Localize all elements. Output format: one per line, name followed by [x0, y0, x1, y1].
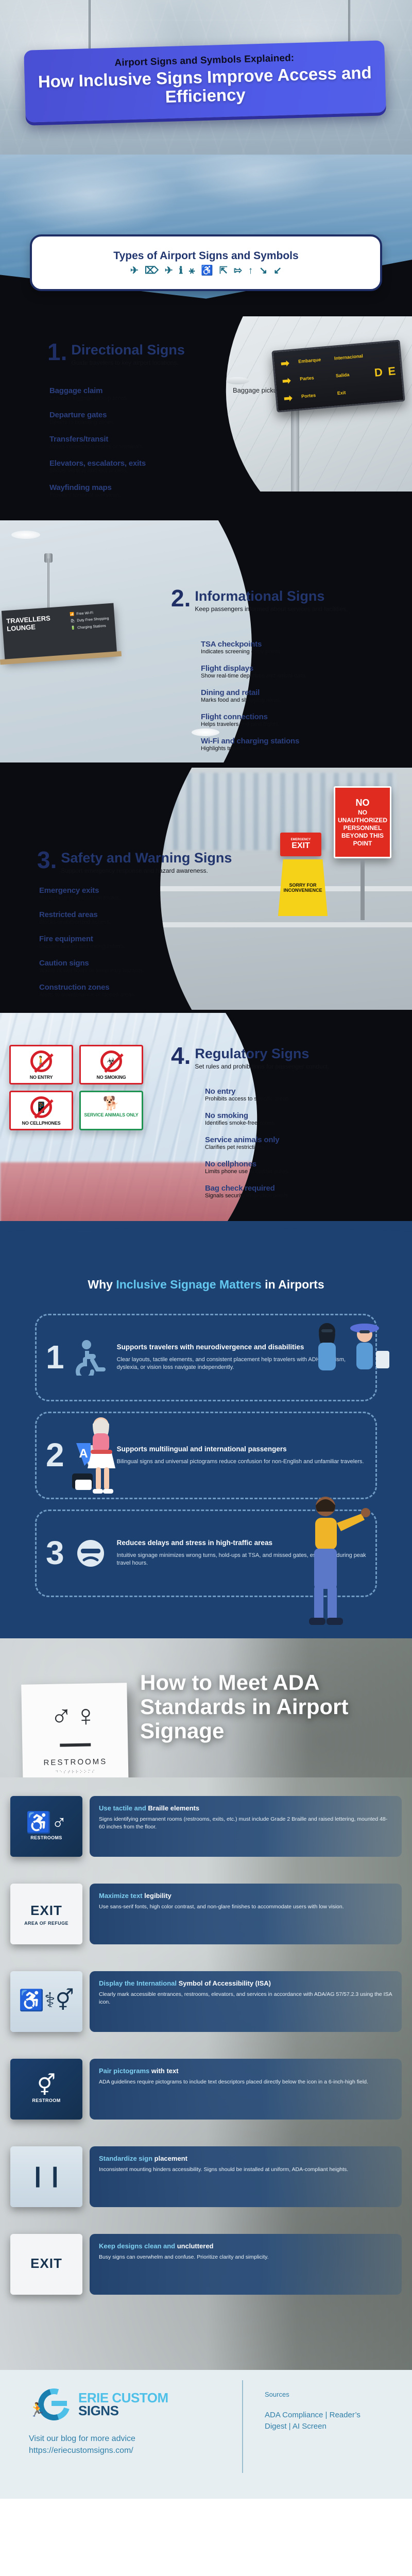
ada-step-5-heading: Standardize sign placement	[99, 2155, 392, 2162]
footer-inner: 🏃 ERIE CUSTOM SIGNS ADA SIGNAGE Visit ou…	[0, 2377, 412, 2485]
ceiling-lamp	[11, 531, 40, 539]
ada-step-2-body: Use sans-serif fonts, high color contras…	[99, 1903, 392, 1911]
arrow-up-right-box-icon: ⇰	[234, 266, 242, 276]
lounge-amenities: 📶Free Wi-Fi 🛍Duty Free Shopping 🔋Chargin…	[66, 603, 117, 657]
item-label: Transfers/transit	[49, 435, 204, 444]
walking-person-icon: 🏃	[29, 2402, 45, 2418]
erie-logo-icon: 🏃	[29, 2386, 73, 2422]
list-item: Fire equipment Locates alarms and exting…	[39, 935, 194, 950]
a-frame-caution-sign: SORRY FOR INCONVENIENCE	[278, 859, 328, 916]
ada-step-3-heading: Display the International Symbol of Acce…	[99, 1979, 392, 1987]
ada-steps-section: ♿♂ RESTROOMS Use tactile and Braille ele…	[0, 1777, 412, 2370]
board-row-2: Partes	[300, 374, 331, 382]
no-entry-sign: 🚶 NO ENTRY	[9, 1045, 73, 1084]
why-row-2-heading: Supports multilingual and international …	[117, 1445, 366, 1453]
section-3-title: Safety and Warning Signs	[61, 850, 232, 866]
section-4-list: No entry Prohibits access to specific ar…	[205, 1087, 359, 1208]
item-desc: Prohibits access to specific areas.	[205, 1096, 359, 1102]
traveler-pointing-illustration	[288, 1489, 391, 1638]
tile-label: RESTROOMS	[30, 1835, 62, 1840]
item-desc: Leads to luggage pickup areas.	[49, 395, 204, 401]
item-label: Elevators, escalators, exits	[49, 459, 204, 468]
arrow-up-icon: ↑	[248, 266, 253, 276]
ada-hero-title: How to Meet ADA Standards in Airport Sig…	[140, 1670, 398, 1743]
no-unauthorized-text: NO UNAUTHORIZED PERSONNEL BEYOND THIS PO…	[338, 809, 387, 848]
service-animals-sign: 🐕 SERVICE ANIMALS ONLY	[79, 1091, 143, 1130]
item-desc: Marks fastest evacuation routes.	[39, 895, 194, 901]
sign-post	[360, 858, 365, 920]
item-desc: Show real-time departure and arrival dat…	[201, 673, 355, 679]
logo-bar	[51, 2401, 67, 2406]
list-item: Construction zones Alerts to maintenance…	[39, 983, 194, 998]
section-4-title: Regulatory Signs	[195, 1046, 329, 1062]
no-smoking-icon: ☣	[100, 1050, 122, 1072]
airplane-landing-icon: ✈	[130, 266, 139, 276]
footer-blog-line-1: Visit our blog for more advice	[29, 2433, 242, 2445]
section-1-title: Directional Signs	[71, 342, 185, 358]
hero-banner: Airport Signs and Symbols Explained: How…	[0, 0, 412, 170]
brand-logo[interactable]: 🏃 ERIE CUSTOM SIGNS ADA SIGNAGE	[29, 2386, 242, 2422]
ada-step-4: ⚥ RESTROOM Pair pictograms with text ADA…	[10, 2050, 402, 2128]
section-1-number: 1.	[47, 342, 67, 362]
ada-step-2: EXIT AREA OF REFUGE Maximize text legibi…	[10, 1875, 402, 1953]
logo-line-2-row: SIGNS ADA SIGNAGE	[78, 2404, 168, 2417]
item-desc: Shows vertical and exit access.	[49, 468, 204, 474]
footer-blog-block[interactable]: Visit our blog for more advice https://e…	[29, 2433, 242, 2456]
section-informational-signs: TRAVELLERS LOUNGE 📶Free Wi-Fi 🛍Duty Free…	[0, 520, 412, 768]
service-animals-label: SERVICE ANIMALS ONLY	[83, 1112, 140, 1117]
restroom-pictogram-icon: ♂♀	[50, 1701, 99, 1732]
item-desc: Identifies smoke-free zones.	[205, 1120, 359, 1126]
section-4-subtitle: Set rules and prohibitions for passenger…	[195, 1063, 329, 1070]
clean-exit-sign-tile: EXIT	[10, 2234, 82, 2295]
item-desc: Blocks unauthorized access.	[39, 919, 194, 925]
restroom-icon: ⚹	[189, 266, 195, 276]
list-item: No smoking Identifies smoke-free zones.	[205, 1111, 359, 1126]
why-title-pre: Why	[88, 1278, 116, 1291]
why-section-title: Why Inclusive Signage Matters in Airport…	[0, 1278, 412, 1292]
list-item: Dining and retail Marks food and shoppin…	[201, 688, 355, 703]
stress-face-icon	[72, 1537, 110, 1569]
item-desc: Alerts to maintenance or closed areas.	[39, 992, 194, 998]
ada-step-1: ♿♂ RESTROOMS Use tactile and Braille ele…	[10, 1788, 402, 1865]
item-desc: Signals security inspection points.	[205, 1193, 359, 1199]
item-desc: Helps travelers find next flights.	[201, 721, 355, 727]
item-label: Baggage claim	[49, 386, 204, 395]
lounge-sign-title: TRAVELLERS LOUNGE	[2, 606, 70, 662]
ada-step-6: EXIT Keep designs clean and uncluttered …	[10, 2226, 402, 2303]
section-2-number: 2.	[171, 588, 191, 608]
exit-area-of-refuge-tile: EXIT AREA OF REFUGE	[10, 1884, 82, 1944]
list-item: Bag check required Signals security insp…	[205, 1184, 359, 1199]
why-row-2-text: Supports multilingual and international …	[117, 1445, 366, 1466]
list-item: Elevators, escalators, exits Shows verti…	[49, 459, 204, 474]
list-item: Flight connections Helps travelers find …	[201, 713, 355, 727]
standard-sign-placement-tile: ❙❙	[10, 2146, 82, 2207]
item-label: Wi-Fi and charging stations	[201, 737, 355, 745]
list-item: Restricted areas Blocks unauthorized acc…	[39, 910, 194, 925]
why-row-2-body: Bilingual signs and universal pictograms…	[117, 1458, 366, 1466]
board-row-1: Embarque	[298, 357, 330, 365]
ada-step-6-body: Busy signs can overwhelm and confuse. Pr…	[99, 2253, 392, 2261]
arrow-right-icon: ➡	[280, 357, 290, 370]
ada-step-1-body: Signs identifying permanent rooms (restr…	[99, 1816, 392, 1831]
restroom-pair-icon: ⚥	[37, 2075, 56, 2096]
list-item: Service animals only Clarifies pet restr…	[205, 1136, 359, 1150]
traveler-walking-illustration	[72, 1413, 139, 1500]
wheelchair-icon: ♿	[201, 266, 213, 276]
footer-right: Sources ADA Compliance | Reader’s Digest…	[243, 2377, 412, 2485]
ada-step-5-card: Standardize sign placement Inconsistent …	[90, 2146, 402, 2207]
list-item: Departure gates Directs to boarding zone…	[49, 411, 204, 426]
ada-step-1-card: Use tactile and Braille elements Signs i…	[90, 1796, 402, 1857]
baggage-pickup-label: Baggage pickup	[233, 386, 281, 394]
no-unauthorized-sign: NO NO UNAUTHORIZED PERSONNEL BEYOND THIS…	[334, 786, 391, 858]
no-smoking-icon: ⌦	[145, 266, 159, 276]
footer: 🏃 ERIE CUSTOM SIGNS ADA SIGNAGE Visit ou…	[0, 2370, 412, 2499]
ada-step-5-body: Inconsistent mounting hinders accessibil…	[99, 2166, 392, 2174]
section-4-heading: 4. Regulatory Signs Set rules and prohib…	[171, 1046, 329, 1070]
arrow-down-right-icon: ↘	[259, 266, 267, 276]
wheelchair-icon	[72, 1340, 110, 1376]
item-label: TSA checkpoints	[201, 640, 355, 649]
types-card-title: Types of Airport Signs and Symbols	[113, 250, 298, 262]
list-item: Flight displays Show real-time departure…	[201, 664, 355, 679]
item-label: Service animals only	[205, 1136, 359, 1144]
item-desc: Marks food and shopping areas.	[201, 697, 355, 703]
ada-step-3-body: Clearly mark accessible entrances, restr…	[99, 1991, 392, 2006]
no-entry-label: NO ENTRY	[13, 1075, 70, 1080]
sources-value: ADA Compliance | Reader’s Digest | AI Sc…	[265, 2410, 373, 2432]
battery-icon: 🔋	[71, 624, 76, 632]
arrow-diagonal-icon: ↙	[273, 266, 282, 276]
list-item: Baggage claim Leads to luggage pickup ar…	[49, 386, 204, 401]
list-item: TSA checkpoints Indicates screening entr…	[201, 640, 355, 655]
item-label: Emergency exits	[39, 886, 194, 895]
item-label: Bag check required	[205, 1184, 359, 1193]
gate-letter-d: D	[374, 366, 383, 380]
item-label: Construction zones	[39, 983, 194, 992]
item-label: Dining and retail	[201, 688, 355, 697]
item-desc: Clarifies pet restrictions.	[205, 1144, 359, 1150]
exit-text-2: EXIT	[30, 2256, 62, 2272]
item-label: Caution signs	[39, 959, 194, 968]
section-3-number: 3.	[37, 850, 57, 870]
types-icon-row: ✈ ⌦ ✈ ℹ ⚹ ♿ ⇱ ⇰ ↑ ↘ ↙	[130, 266, 282, 276]
list-item: Wi-Fi and charging stations Highlights t…	[201, 737, 355, 752]
item-label: Restricted areas	[39, 910, 194, 919]
item-label: Fire equipment	[39, 935, 194, 943]
arrow-up-left-box-icon: ⇱	[219, 266, 228, 276]
no-cellphones-label: NO CELLPHONES	[13, 1121, 70, 1126]
exit-text: EXIT	[30, 1903, 62, 1919]
board-sub-1: Internacional	[334, 353, 366, 361]
pictogram-pair-tile: ⚥ RESTROOM	[10, 2059, 82, 2120]
exit-label: EXIT	[291, 841, 310, 851]
ada-step-4-body: ADA guidelines require pictograms to inc…	[99, 2078, 392, 2086]
section-3-heading: 3. Safety and Warning Signs Support emer…	[37, 850, 232, 874]
arrow-right-icon-2: ➡	[282, 374, 291, 387]
item-label: No cellphones	[205, 1160, 359, 1168]
footer-blog-url[interactable]: https://eriecustomsigns.com/	[29, 2445, 242, 2456]
item-desc: Directs to boarding zones.	[49, 419, 204, 426]
arrow-right-icon-3: ➡	[283, 391, 293, 404]
why-title-post: in Airports	[262, 1278, 324, 1291]
board-sub-2: Salida	[336, 371, 367, 379]
item-label: Flight displays	[201, 664, 355, 673]
section-3-list: Emergency exits Marks fastest evacuation…	[39, 886, 194, 1007]
item-label: Flight connections	[201, 713, 355, 721]
section-safety-warning-signs: NO NO UNAUTHORIZED PERSONNEL BEYOND THIS…	[0, 762, 412, 1010]
section-regulatory-signs: 🚶 NO ENTRY ☣ NO SMOKING 📱 NO CELLPHONES …	[0, 1010, 412, 1226]
ada-standards-hero: ♂♀ RESTROOMS ⠙⠑⠎⠞⠗⠗⠕⠕⠍⠎ How to Meet ADA …	[0, 1638, 412, 1785]
service-dog-icon: 🐕	[83, 1096, 140, 1110]
board-text-column: Embarque Partes Portes	[295, 347, 336, 409]
no-text: NO	[356, 797, 370, 809]
section-2-title: Informational Signs	[195, 588, 348, 604]
traveler-illustration-pair	[299, 1319, 397, 1401]
no-smoking-label: NO SMOKING	[83, 1075, 140, 1080]
types-card: Types of Airport Signs and Symbols ✈ ⌦ ✈…	[30, 234, 382, 291]
airplane-up-icon: ✈	[165, 266, 173, 276]
section-1-subtitle: Guide travelers to key airport locations…	[71, 359, 185, 366]
item-desc: Marks connection routes or terminals.	[49, 444, 204, 450]
lounge-rod	[47, 558, 49, 608]
ada-step-3-card: Display the International Symbol of Acce…	[90, 1971, 402, 2032]
ada-step-5: ❙❙ Standardize sign placement Inconsiste…	[10, 2138, 402, 2215]
item-desc: Locates alarms and extinguishers.	[39, 943, 194, 950]
directional-photo: Baggage pickup ➡ ➡ ➡ Embarque Partes Por…	[196, 316, 412, 492]
list-item: Wayfinding maps Provides terminal overvi…	[49, 483, 204, 498]
board-sub-3: Exit	[337, 388, 369, 396]
list-item: No cellphones Limits phone use in certai…	[205, 1160, 359, 1175]
why-inclusive-signage-section: Why Inclusive Signage Matters in Airport…	[0, 1221, 412, 1638]
why-title-highlight: Inclusive Signage Matters	[116, 1278, 261, 1291]
ada-step-2-card: Maximize text legibility Use sans-serif …	[90, 1884, 402, 1944]
item-label: No smoking	[205, 1111, 359, 1120]
column-cap	[226, 377, 249, 384]
why-wave-divider	[0, 1221, 412, 1270]
item-label: Wayfinding maps	[49, 483, 204, 492]
list-item: No entry Prohibits access to specific ar…	[205, 1087, 359, 1102]
list-item: Transfers/transit Marks connection route…	[49, 435, 204, 450]
item-label: No entry	[205, 1087, 359, 1096]
sign-placement-icon: ❙❙	[29, 2165, 63, 2186]
section-1-heading: 1. Directional Signs Guide travelers to …	[47, 342, 185, 366]
section-4-number: 4.	[171, 1046, 191, 1066]
section-3-subtitle: Support emergency response and hazard aw…	[61, 867, 232, 874]
emergency-exit-sign: EMERGENCY EXIT	[280, 833, 321, 856]
logo-line-2: SIGNS	[78, 2404, 118, 2417]
board-sub-column: Internacional Salida Exit	[331, 344, 372, 406]
prohibition-signs-grid: 🚶 NO ENTRY ☣ NO SMOKING 📱 NO CELLPHONES …	[9, 1045, 143, 1130]
ada-step-6-card: Keep designs clean and uncluttered Busy …	[90, 2234, 402, 2295]
gate-direction-board: ➡ ➡ ➡ Embarque Partes Portes Internacion…	[271, 340, 405, 412]
section-1-list: Baggage claim Leads to luggage pickup ar…	[49, 386, 204, 507]
section-2-heading: 2. Informational Signs Keep passengers i…	[171, 588, 348, 613]
section-2-subtitle: Keep passengers informed about services …	[195, 605, 348, 613]
wheelchair-restroom-icon: ♿♂	[26, 1812, 67, 1833]
accessibility-symbols-tile: ♿⚕⚥	[10, 1971, 82, 2032]
shopping-icon: 🛍	[70, 618, 75, 625]
ada-step-6-heading: Keep designs clean and uncluttered	[99, 2242, 392, 2250]
no-entry-icon: 🚶	[30, 1050, 52, 1072]
why-row-2-number: 2	[46, 1442, 64, 1468]
ada-step-1-heading: Use tactile and Braille elements	[99, 1804, 392, 1812]
restroom-ada-plate: ♂♀ RESTROOMS ⠙⠑⠎⠞⠗⠗⠕⠕⠍⠎	[21, 1683, 130, 1785]
no-cellphone-icon: 📱	[30, 1096, 52, 1118]
tile-label: AREA OF REFUGE	[24, 1921, 68, 1926]
no-cellphones-sign: 📱 NO CELLPHONES	[9, 1091, 73, 1130]
section-directional-signs: Baggage pickup ➡ ➡ ➡ Embarque Partes Por…	[0, 309, 412, 526]
item-desc: Limits phone use in certain areas.	[205, 1168, 359, 1175]
plate-caption: RESTROOMS	[43, 1757, 107, 1767]
tile-label: RESTROOM	[32, 2098, 60, 2103]
plate-divider	[60, 1743, 91, 1747]
item-desc: Highlights traveler amenities.	[201, 745, 355, 752]
footer-left: 🏃 ERIE CUSTOM SIGNS ADA SIGNAGE Visit ou…	[0, 2377, 242, 2485]
list-item: Caution signs Warns of wet floors or tem…	[39, 959, 194, 974]
board-row-3: Portes	[301, 392, 333, 399]
logo-wordmark: ERIE CUSTOM SIGNS ADA SIGNAGE	[78, 2392, 168, 2417]
no-smoking-sign: ☣ NO SMOKING	[79, 1045, 143, 1084]
plate-braille: ⠙⠑⠎⠞⠗⠗⠕⠕⠍⠎	[55, 1769, 96, 1774]
wifi-icon: 📶	[70, 611, 75, 618]
hero-title: How Inclusive Signs Improve Access and E…	[35, 63, 375, 109]
ada-step-3: ♿⚕⚥ Display the International Symbol of …	[10, 1963, 402, 2040]
ada-step-4-heading: Pair pictograms with text	[99, 2067, 392, 2075]
ada-step-2-heading: Maximize text legibility	[99, 1892, 392, 1900]
item-desc: Warns of wet floors or temporary hazards…	[39, 968, 194, 974]
item-label: Departure gates	[49, 411, 204, 419]
board-letters-column: D E	[367, 342, 404, 403]
braille-restroom-tile: ♿♂ RESTROOMS	[10, 1796, 82, 1857]
sources-label: Sources	[265, 2391, 412, 2398]
why-row-3-number: 3	[46, 1540, 64, 1566]
ada-step-4-card: Pair pictograms with text ADA guidelines…	[90, 2059, 402, 2120]
why-row-1-number: 1	[46, 1344, 64, 1370]
infographic-page: Airport Signs and Symbols Explained: How…	[0, 0, 412, 2499]
list-item: Emergency exits Marks fastest evacuation…	[39, 886, 194, 901]
hero-title-sign: Airport Signs and Symbols Explained: How…	[24, 40, 386, 122]
section-2-list: TSA checkpoints Indicates screening entr…	[201, 640, 355, 761]
item-desc: Indicates screening entry points.	[201, 649, 355, 655]
isa-symbol-icon: ♿⚕⚥	[19, 1990, 74, 2011]
information-icon: ℹ	[179, 266, 183, 276]
gate-letter-e: E	[387, 364, 396, 378]
item-desc: Provides terminal overviews.	[49, 492, 204, 498]
